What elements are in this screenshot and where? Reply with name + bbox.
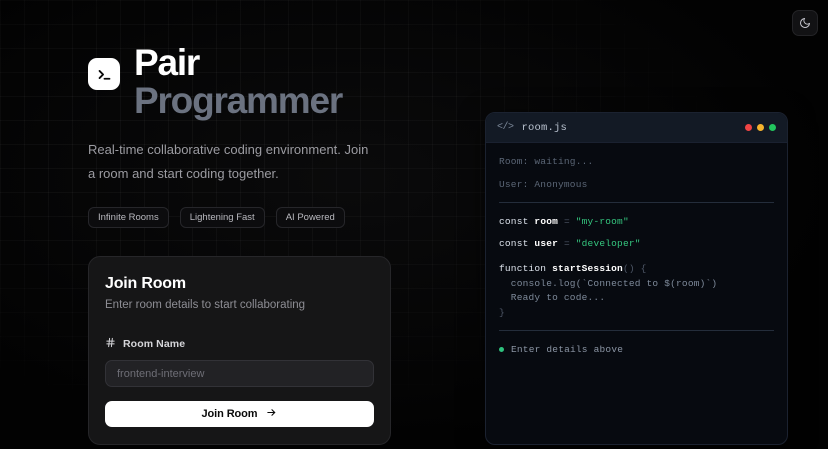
app-root: Pair Programmer Real-time collaborative …: [0, 0, 828, 449]
feature-pill-infinite-rooms: Infinite Rooms: [88, 207, 169, 229]
code-line-closing-brace: }: [499, 308, 774, 318]
hero-header: Pair Programmer: [88, 44, 400, 119]
status-indicator-dot: [499, 347, 504, 352]
right-column: </> room.js Room: waiting... User: Anony…: [400, 30, 788, 445]
room-name-input[interactable]: [105, 360, 374, 387]
operator-equals-2: =: [564, 238, 570, 249]
status-message: Enter details above: [511, 345, 623, 355]
code-line-function-decl: function startSession() {: [499, 264, 774, 274]
variable-user: user: [534, 238, 558, 249]
function-name-startsession: startSession: [552, 263, 623, 274]
window-control-dots: [745, 124, 776, 131]
string-my-room: "my-room": [576, 216, 629, 227]
code-meta-user: User: Anonymous: [499, 180, 774, 190]
maximize-dot[interactable]: [769, 124, 776, 131]
moon-icon: [799, 17, 811, 29]
function-punctuation: () {: [623, 263, 647, 274]
theme-toggle-button[interactable]: [792, 10, 818, 36]
code-status-row: Enter details above: [499, 345, 774, 355]
room-name-label: Room Name: [105, 337, 374, 351]
left-column: Pair Programmer Real-time collaborative …: [88, 30, 400, 445]
app-logo: [88, 58, 120, 90]
join-room-card: Join Room Enter room details to start co…: [88, 256, 391, 445]
code-line-ready-comment: Ready to code...: [499, 293, 774, 303]
keyword-const-2: const: [499, 238, 529, 249]
code-meta-room: Room: waiting...: [499, 157, 774, 167]
code-line-console-log: console.log(`Connected to $(room)`): [499, 279, 774, 289]
minimize-dot[interactable]: [757, 124, 764, 131]
code-panel-body: Room: waiting... User: Anonymous const r…: [486, 143, 787, 369]
terminal-prompt-icon: [96, 66, 113, 83]
code-brackets-icon: </>: [497, 122, 514, 133]
string-developer: "developer": [576, 238, 641, 249]
code-preview-panel: </> room.js Room: waiting... User: Anony…: [485, 112, 788, 445]
hero-subtitle: Real-time collaborative coding environme…: [88, 138, 370, 184]
code-line-const-user: const user = "developer": [499, 239, 774, 249]
arrow-right-icon: [266, 407, 277, 421]
join-room-subtitle: Enter room details to start collaboratin…: [105, 299, 374, 311]
join-room-title: Join Room: [105, 275, 374, 293]
variable-room: room: [534, 216, 558, 227]
page-content: Pair Programmer Real-time collaborative …: [0, 0, 828, 445]
operator-equals-1: =: [564, 216, 570, 227]
close-dot[interactable]: [745, 124, 752, 131]
code-divider-top: [499, 202, 774, 203]
code-panel-header: </> room.js: [486, 113, 787, 143]
title-line-secondary: Programmer: [134, 82, 342, 120]
feature-pill-ai-powered: AI Powered: [276, 207, 345, 229]
page-title: Pair Programmer: [134, 44, 342, 119]
code-divider-bottom: [499, 330, 774, 331]
join-room-button[interactable]: Join Room: [105, 401, 374, 427]
hash-icon: [105, 337, 116, 351]
keyword-const-1: const: [499, 216, 529, 227]
code-line-const-room: const room = "my-room": [499, 217, 774, 227]
title-line-primary: Pair: [134, 44, 342, 82]
join-room-button-label: Join Room: [202, 408, 258, 420]
code-panel-filename: room.js: [522, 122, 568, 134]
feature-pill-lightening-fast: Lightening Fast: [180, 207, 265, 229]
keyword-function: function: [499, 263, 546, 274]
feature-pill-row: Infinite Rooms Lightening Fast AI Powere…: [88, 207, 400, 229]
room-name-label-text: Room Name: [123, 338, 185, 350]
